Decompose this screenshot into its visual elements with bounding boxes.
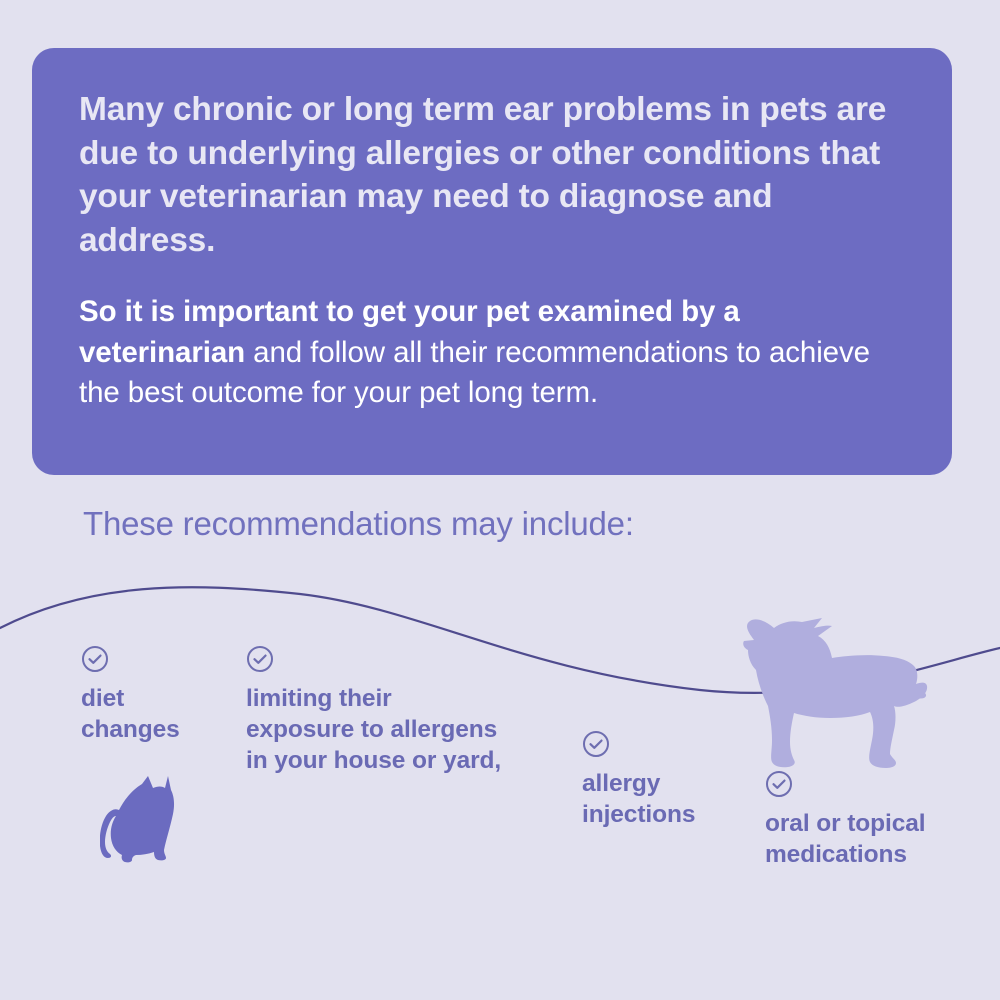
- dog-silhouette: [718, 612, 928, 770]
- cat-silhouette: [100, 772, 178, 868]
- check-circle-icon: [81, 645, 109, 673]
- recommendation-item-allergy-injections[interactable]: allergy injections: [582, 730, 695, 830]
- recommendation-label: diet changes: [81, 683, 180, 745]
- recommendation-label: limiting their exposure to allergens in …: [246, 683, 501, 776]
- check-circle-icon: [765, 770, 793, 798]
- recommendation-item-diet-changes[interactable]: diet changes: [81, 645, 180, 745]
- check-circle-icon: [582, 730, 610, 758]
- recommendation-label: oral or topical medications: [765, 808, 926, 870]
- callout-card: Many chronic or long term ear problems i…: [32, 48, 952, 475]
- section-heading: These recommendations may include:: [83, 505, 634, 543]
- check-circle-icon: [246, 645, 274, 673]
- card-lead-paragraph: Many chronic or long term ear problems i…: [79, 88, 908, 262]
- recommendation-item-oral-topical-medications[interactable]: oral or topical medications: [765, 770, 926, 870]
- recommendation-item-limiting-exposure[interactable]: limiting their exposure to allergens in …: [246, 645, 501, 776]
- card-body-paragraph: So it is important to get your pet exami…: [79, 292, 908, 414]
- infographic-root: Many chronic or long term ear problems i…: [0, 0, 1000, 1000]
- recommendation-label: allergy injections: [582, 768, 695, 830]
